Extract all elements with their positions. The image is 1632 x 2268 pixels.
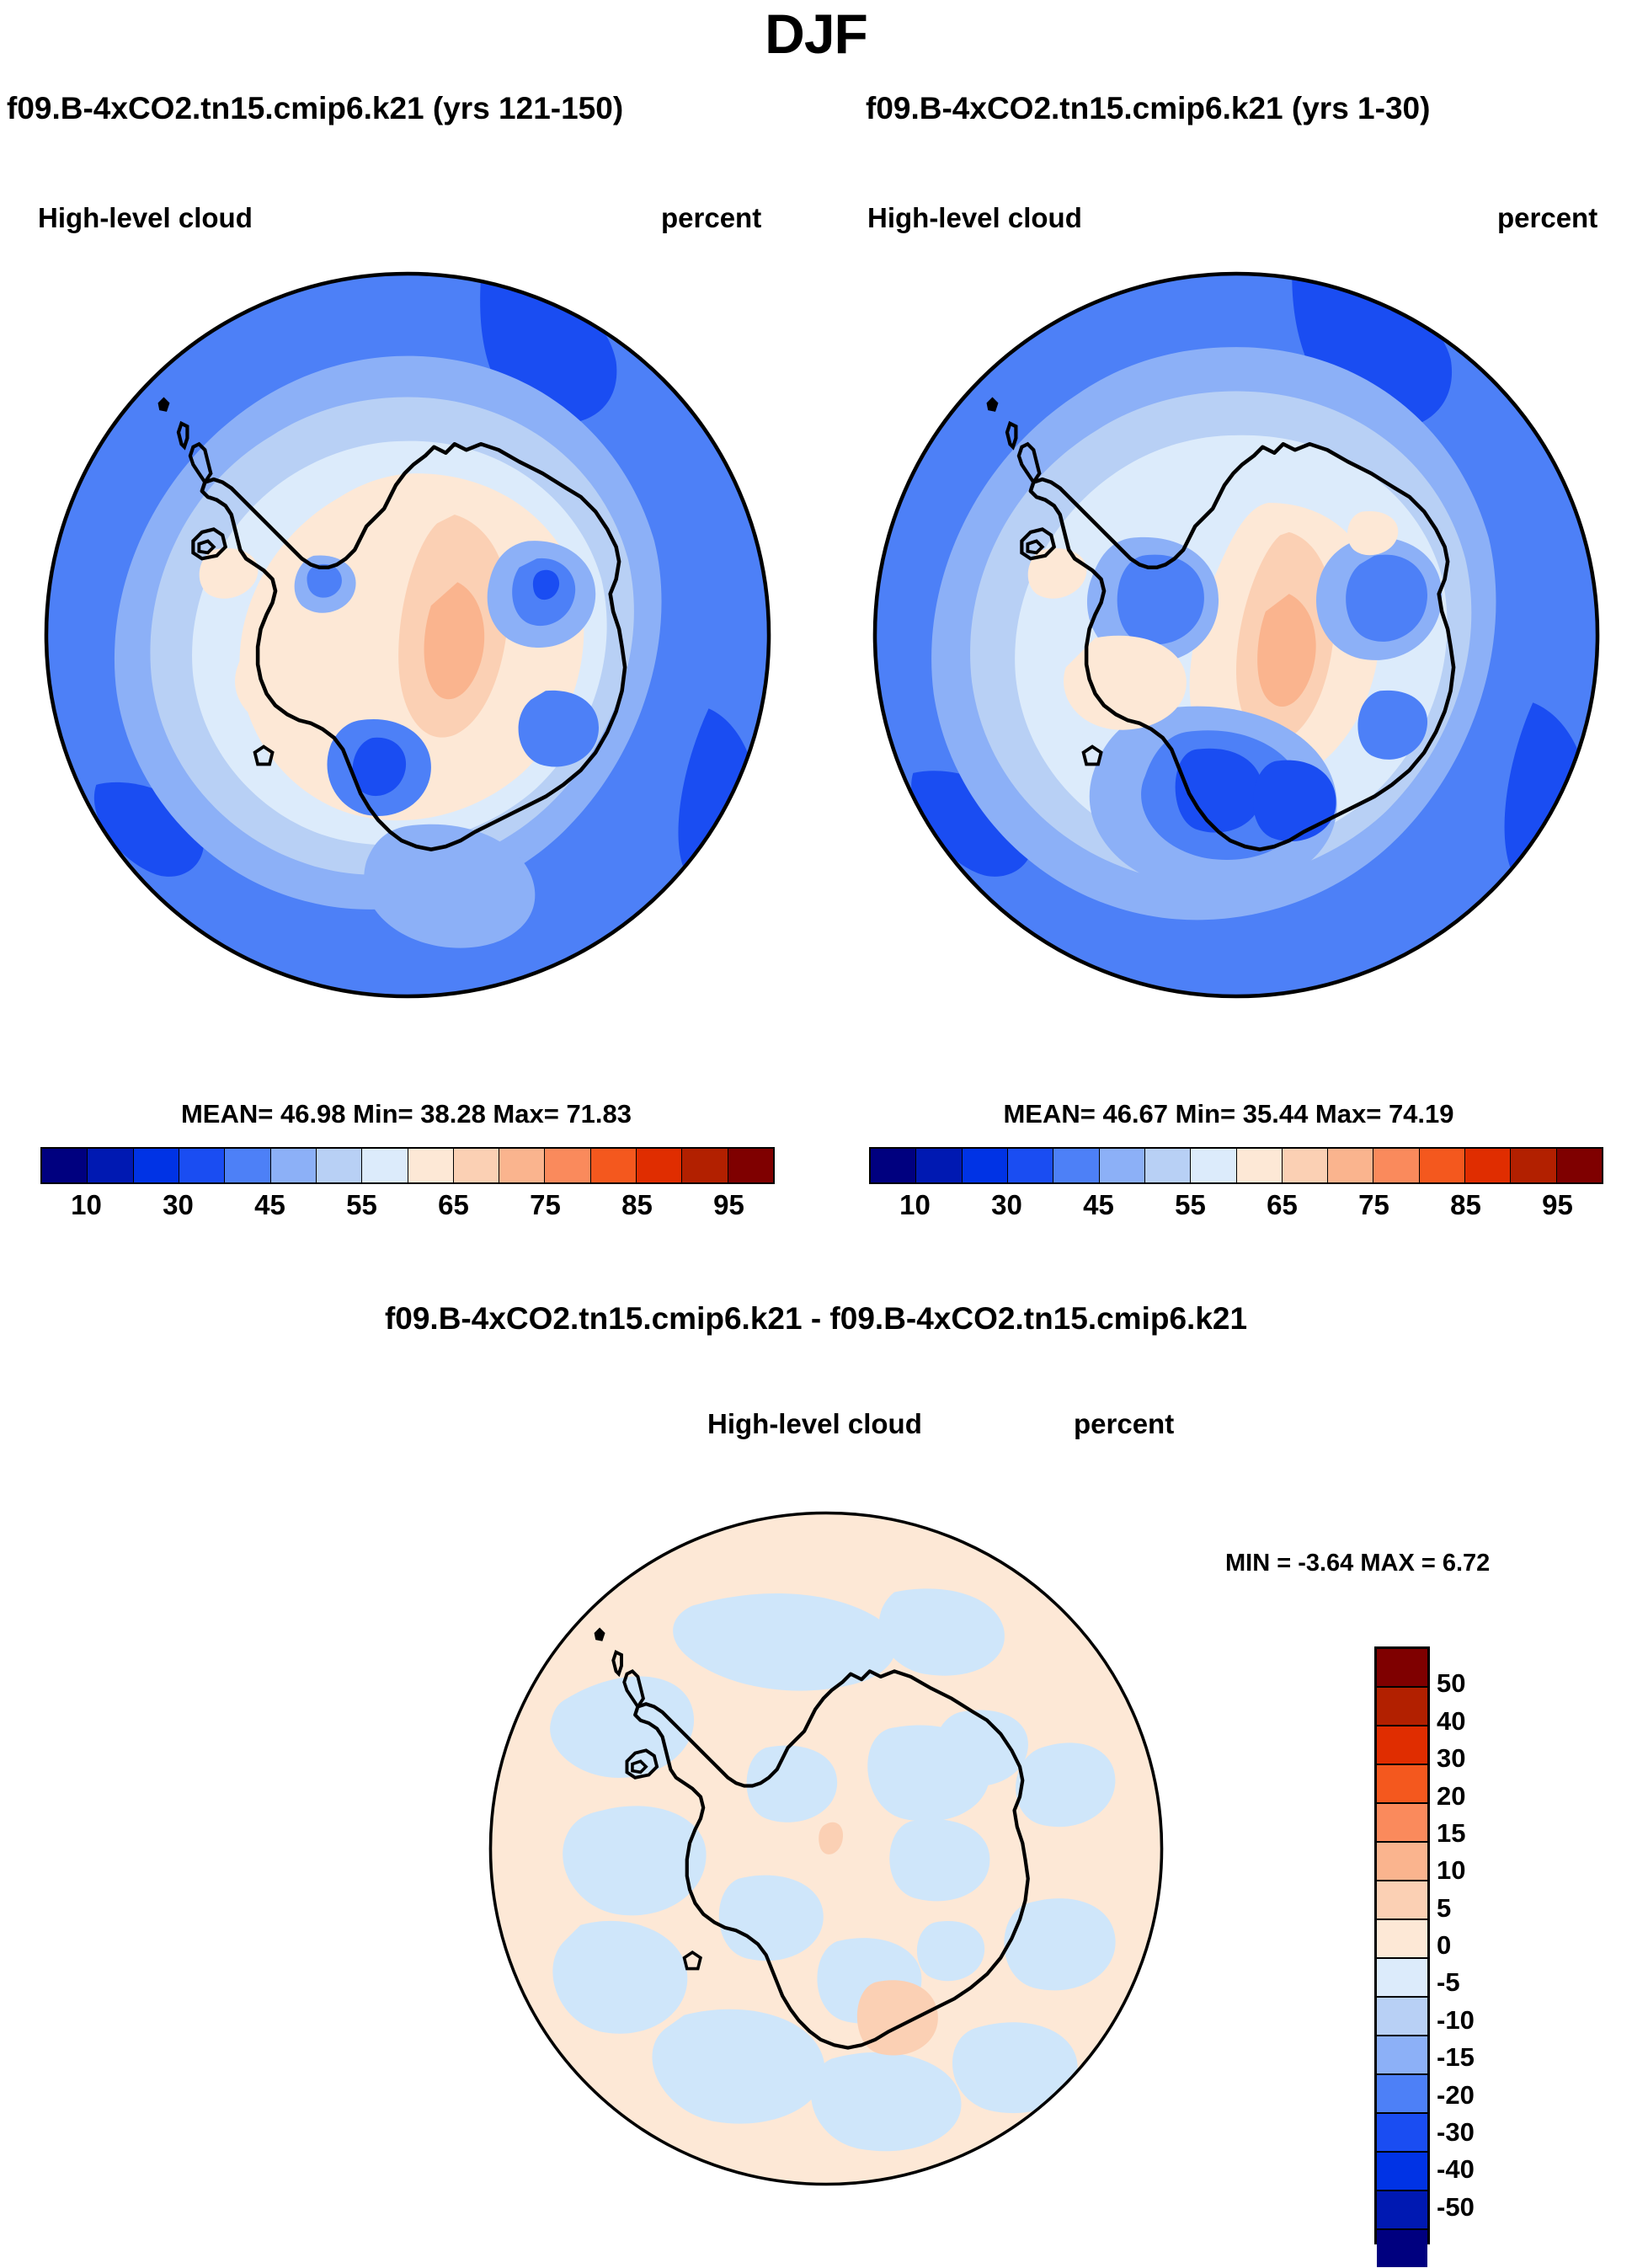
colorbar-cell — [1191, 1149, 1236, 1182]
colorbar-cell — [916, 1149, 962, 1182]
colorbar-cell — [1377, 1843, 1427, 1881]
left-panel-stats: MEAN= 46.98 Min= 38.28 Max= 71.83 — [0, 1099, 813, 1129]
colorbar-cell — [1377, 1804, 1427, 1843]
colorbar-cell — [1377, 1998, 1427, 2036]
colorbar-cell — [1557, 1149, 1602, 1182]
colorbar-cell — [637, 1149, 682, 1182]
right-map-svg — [869, 268, 1603, 1002]
colorbar-cell — [1373, 1149, 1419, 1182]
left-colorbar-ticks: 1030455565758595 — [40, 1189, 775, 1228]
colorbar-cell — [591, 1149, 637, 1182]
colorbar-cell — [1377, 1688, 1427, 1726]
colorbar-cell — [682, 1149, 728, 1182]
colorbar-cell — [545, 1149, 590, 1182]
colorbar-tick-label: 85 — [1450, 1189, 1481, 1221]
left-polar-map — [40, 268, 775, 1002]
colorbar-cell — [1283, 1149, 1328, 1182]
colorbar-tick-label: 55 — [346, 1189, 377, 1221]
colorbar-cell — [871, 1149, 916, 1182]
colorbar-cell — [1377, 2191, 1427, 2230]
colorbar-tick-label: 65 — [1267, 1189, 1298, 1221]
colorbar-cell — [1377, 1649, 1427, 1688]
colorbar-cell — [88, 1149, 133, 1182]
colorbar-tick-label: -30 — [1437, 2117, 1475, 2148]
colorbar-tick-label: 10 — [1437, 1855, 1465, 1886]
colorbar-tick-label: -50 — [1437, 2192, 1475, 2223]
right-panel-stats: MEAN= 46.67 Min= 35.44 Max= 74.19 — [825, 1099, 1632, 1129]
diff-panel-units-label: percent — [1074, 1408, 1174, 1440]
colorbar-cell — [1377, 1920, 1427, 1959]
colorbar-tick-label: 20 — [1437, 1781, 1465, 1812]
colorbar-tick-label: 50 — [1437, 1668, 1465, 1699]
colorbar-cell — [317, 1149, 362, 1182]
colorbar-cell — [1511, 1149, 1556, 1182]
colorbar-cell — [1377, 1765, 1427, 1804]
colorbar-tick-label: 65 — [438, 1189, 469, 1221]
colorbar-tick-label: 75 — [530, 1189, 561, 1221]
colorbar-cell — [1377, 2075, 1427, 2114]
colorbar-cell — [362, 1149, 408, 1182]
colorbar-cell — [1100, 1149, 1145, 1182]
diff-panel-variable-label: High-level cloud — [707, 1408, 922, 1440]
season-title: DJF — [0, 2, 1632, 66]
colorbar-tick-label: 10 — [71, 1189, 102, 1221]
diff-panel-minmax: MIN = -3.64 MAX = 6.72 — [1225, 1550, 1490, 1577]
colorbar-tick-label: 30 — [991, 1189, 1022, 1221]
left-panel-case-title: f09.B-4xCO2.tn15.cmip6.k21 (yrs 121-150) — [7, 91, 874, 126]
colorbar-tick-label: 45 — [254, 1189, 285, 1221]
colorbar-tick-label: 95 — [1542, 1189, 1573, 1221]
right-polar-map — [869, 268, 1603, 1002]
colorbar-cell — [271, 1149, 317, 1182]
colorbar-tick-label: -5 — [1437, 1967, 1460, 1998]
colorbar-cell — [179, 1149, 225, 1182]
colorbar-cell — [963, 1149, 1008, 1182]
right-panel-case-title: f09.B-4xCO2.tn15.cmip6.k21 (yrs 1-30) — [866, 91, 1632, 126]
colorbar-tick-label: 40 — [1437, 1706, 1465, 1737]
colorbar-cell — [1328, 1149, 1373, 1182]
colorbar-cell — [134, 1149, 179, 1182]
colorbar-cell — [1377, 1959, 1427, 1998]
colorbar-tick-label: 30 — [1437, 1743, 1465, 1774]
colorbar-tick-label: 5 — [1437, 1893, 1451, 1924]
left-colorbar — [40, 1147, 775, 1184]
colorbar-tick-label: 0 — [1437, 1930, 1451, 1961]
colorbar-cell — [1145, 1149, 1191, 1182]
colorbar-cell — [1377, 2114, 1427, 2153]
colorbar-tick-label: 15 — [1437, 1818, 1465, 1849]
colorbar-tick-label: -20 — [1437, 2080, 1475, 2111]
colorbar-cell — [728, 1149, 773, 1182]
right-panel-units-label: percent — [1497, 202, 1597, 234]
colorbar-tick-label: -40 — [1437, 2154, 1475, 2185]
colorbar-cell — [408, 1149, 454, 1182]
diff-colorbar-ticks: 50403020151050-5-10-15-20-30-40-50 — [1437, 1646, 1538, 2244]
colorbar-tick-label: 55 — [1175, 1189, 1206, 1221]
colorbar-cell — [1053, 1149, 1099, 1182]
colorbar-tick-label: 30 — [163, 1189, 194, 1221]
diff-panel-case-title: f09.B-4xCO2.tn15.cmip6.k21 - f09.B-4xCO2… — [0, 1301, 1632, 1337]
right-colorbar-ticks: 1030455565758595 — [869, 1189, 1603, 1228]
colorbar-cell — [499, 1149, 545, 1182]
left-map-svg — [40, 268, 775, 1002]
right-colorbar — [869, 1147, 1603, 1184]
right-panel-variable-label: High-level cloud — [867, 202, 1082, 234]
colorbar-cell — [1465, 1149, 1511, 1182]
colorbar-cell — [42, 1149, 88, 1182]
colorbar-cell — [1377, 2230, 1427, 2267]
colorbar-tick-label: 75 — [1358, 1189, 1389, 1221]
colorbar-cell — [1008, 1149, 1053, 1182]
colorbar-tick-label: 45 — [1083, 1189, 1114, 1221]
left-panel-units-label: percent — [661, 202, 761, 234]
colorbar-cell — [1420, 1149, 1465, 1182]
colorbar-cell — [1377, 2153, 1427, 2191]
colorbar-tick-label: 10 — [899, 1189, 931, 1221]
colorbar-tick-label: 85 — [621, 1189, 653, 1221]
colorbar-tick-label: -15 — [1437, 2042, 1475, 2073]
colorbar-cell — [1377, 1881, 1427, 1920]
diff-map-svg — [485, 1508, 1167, 2190]
diff-polar-map — [485, 1508, 1167, 2190]
colorbar-tick-label: -10 — [1437, 2005, 1475, 2036]
colorbar-cell — [225, 1149, 270, 1182]
left-panel-variable-label: High-level cloud — [38, 202, 253, 234]
colorbar-cell — [1377, 1726, 1427, 1765]
colorbar-cell — [454, 1149, 499, 1182]
colorbar-cell — [1377, 2036, 1427, 2075]
diff-colorbar — [1374, 1646, 1430, 2244]
colorbar-tick-label: 95 — [713, 1189, 744, 1221]
colorbar-cell — [1237, 1149, 1283, 1182]
